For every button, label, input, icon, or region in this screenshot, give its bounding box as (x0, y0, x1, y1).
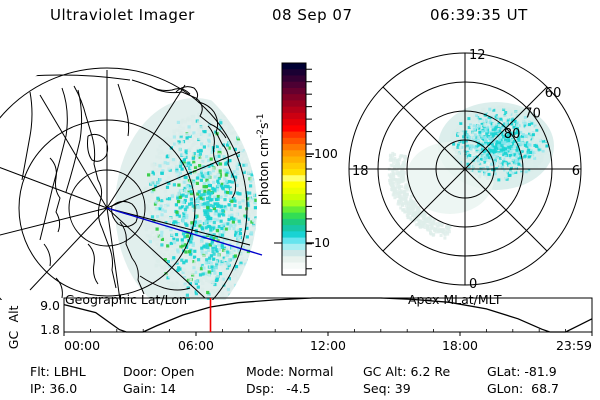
altitude-axis-label-top: Alt (6, 305, 21, 322)
time-tick-12:00: 12:00 (310, 338, 346, 353)
status-mode: Mode: Normal (246, 364, 334, 379)
geographic-plot[interactable] (0, 40, 265, 300)
time-tick-06:00: 06:00 (178, 338, 214, 353)
status-ip: IP: 36.0 (30, 381, 77, 396)
observation-time: 06:39:35 UT (430, 6, 528, 24)
time-tick-00:00: 00:00 (64, 338, 100, 353)
mlt-label-18: 18 (352, 164, 369, 179)
colorbar-unit-exp1: -2 (256, 129, 266, 138)
status-dsp: Dsp: -4.5 (246, 381, 311, 396)
observation-date: 08 Sep 07 (272, 6, 352, 24)
mlat-label-70: 70 (524, 107, 541, 122)
status-gain: Gain: 14 (123, 381, 176, 396)
aurora-oval-overlay (388, 102, 554, 240)
colorbar-panel[interactable]: 100 10 photon cm-2s-1 (248, 55, 343, 295)
altitude-tick-min: 1.8 (40, 322, 60, 337)
orbit-altitude-panel[interactable]: Alt GC 9.0 1.8 00:0006:0012:0018:0023:59 (0, 292, 600, 358)
magnetic-polar-plot[interactable]: 121860607080 (330, 38, 600, 300)
status-door: Door: Open (123, 364, 194, 379)
colorbar-gradient (282, 63, 306, 275)
colorbar-unit-part1: photon cm (256, 138, 271, 205)
svg-text:photon cm-2s-1: photon cm-2s-1 (256, 114, 271, 205)
altitude-tick-max: 9.0 (40, 298, 60, 313)
mlt-label-12: 12 (469, 48, 486, 63)
status-gc-alt: GC Alt: 6.2 Re (363, 364, 450, 379)
altitude-curve (64, 298, 592, 332)
header-bar: Ultraviolet Imager 08 Sep 07 06:39:35 UT (0, 6, 600, 34)
altitude-timeline-plot[interactable]: Alt GC 9.0 1.8 00:0006:0012:0018:0023:59 (0, 292, 600, 358)
status-seq: Seq: 39 (363, 381, 411, 396)
intensity-colorbar[interactable]: 100 10 photon cm-2s-1 (248, 55, 343, 295)
orbit-plot-frame (64, 298, 592, 332)
status-glat: GLat: -81.9 (487, 364, 557, 379)
status-flt: Flt: LBHL (30, 364, 86, 379)
status-glon: GLon: 68.7 (487, 381, 559, 396)
mlat-label-80: 80 (504, 127, 521, 142)
magnetic-projection-panel[interactable]: 121860607080 (330, 38, 600, 300)
mlt-label-0: 0 (469, 277, 477, 292)
geographic-projection-panel[interactable] (0, 40, 265, 300)
instrument-title: Ultraviolet Imager (50, 6, 195, 24)
mlat-label-60: 60 (545, 86, 562, 101)
uv-imager-window: Ultraviolet Imager 08 Sep 07 06:39:35 UT (0, 0, 600, 400)
altitude-axis-label-bottom: GC (6, 331, 21, 350)
time-tick-23:59: 23:59 (556, 338, 592, 353)
colorbar-tick-label-low: 10 (314, 235, 330, 250)
colorbar-unit-exp2: -1 (256, 114, 266, 123)
status-bar: Flt: LBHL Door: Open Mode: Normal GC Alt… (0, 360, 600, 400)
colorbar-axis-label: photon cm-2s-1 (256, 114, 271, 205)
mlt-label-6: 6 (572, 164, 580, 179)
time-tick-18:00: 18:00 (442, 338, 478, 353)
